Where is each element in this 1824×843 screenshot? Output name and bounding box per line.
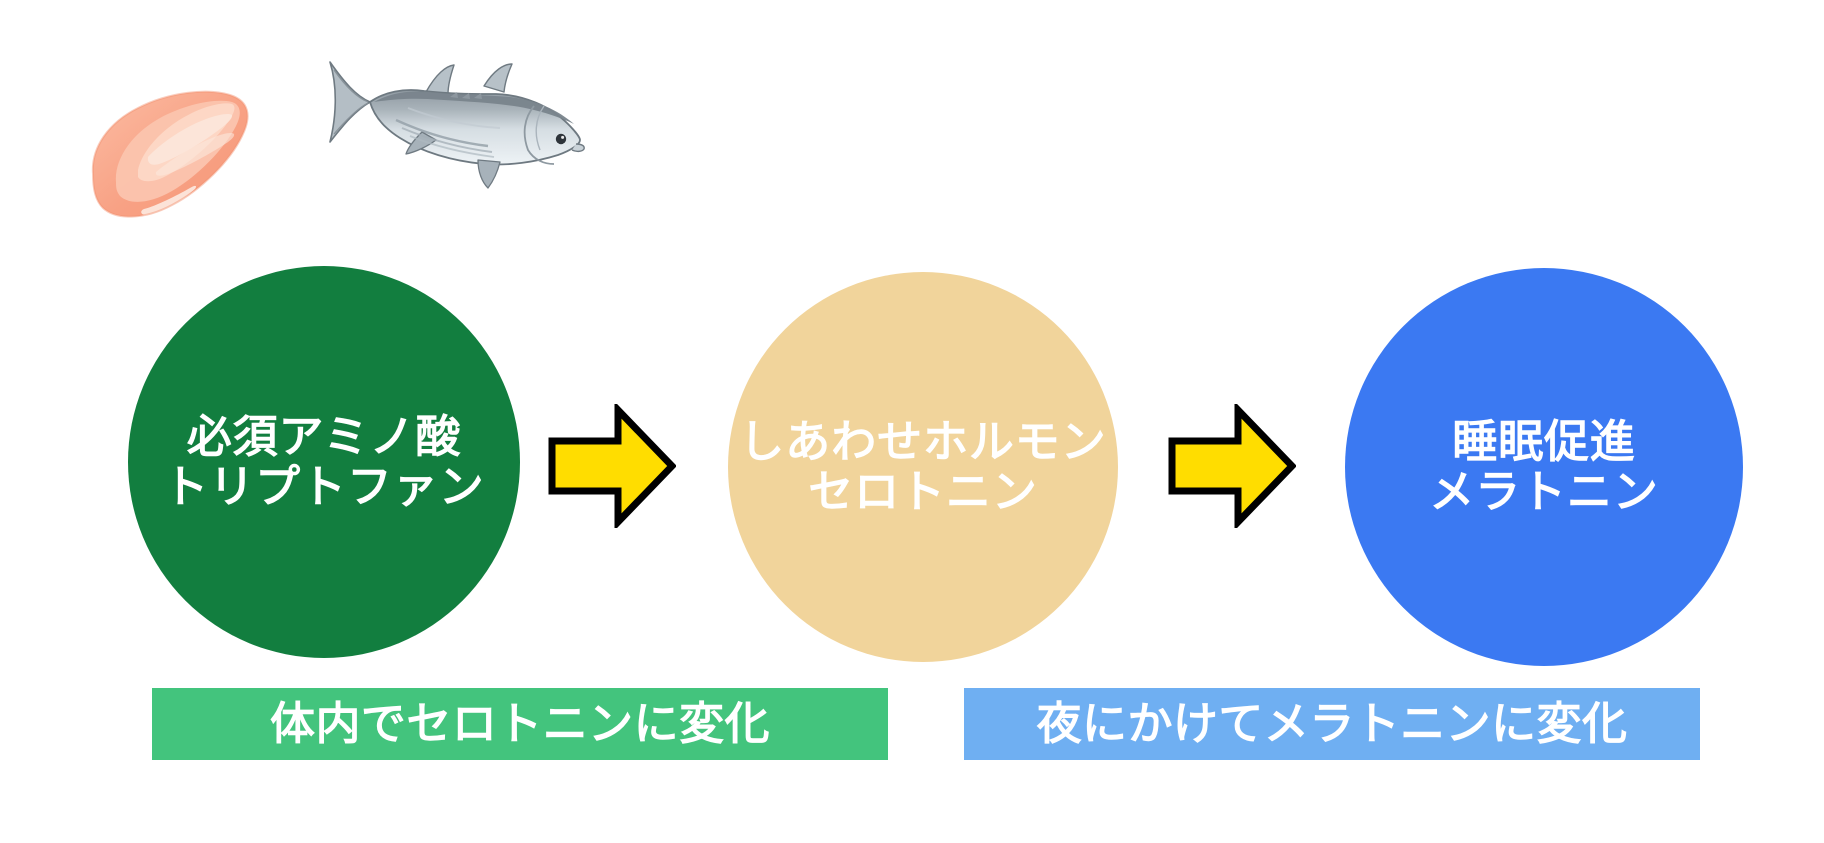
arrow-2 xyxy=(1168,404,1296,528)
arrow-right-icon xyxy=(1168,404,1296,528)
node-melatonin-line2: メラトニン xyxy=(1429,467,1659,517)
bonito-fish-illustration xyxy=(318,40,586,192)
node-tryptophan: 必須アミノ酸 トリプトファン xyxy=(128,266,520,658)
salmon-fillet-illustration xyxy=(86,78,281,223)
caption-bar-serotonin: 体内でセロトニンに変化 xyxy=(152,688,888,760)
fish-icon xyxy=(318,40,586,192)
caption-bar-melatonin-label: 夜にかけてメラトニンに変化 xyxy=(1037,702,1628,747)
node-melatonin: 睡眠促進 メラトニン xyxy=(1345,268,1743,666)
arrow-right-icon xyxy=(548,404,676,528)
arrow-1 xyxy=(548,404,676,528)
node-serotonin: しあわせホルモン セロトニン xyxy=(728,272,1118,662)
caption-bar-melatonin: 夜にかけてメラトニンに変化 xyxy=(964,688,1700,760)
caption-bar-serotonin-label: 体内でセロトニンに変化 xyxy=(270,702,770,747)
diagram-canvas: 必須アミノ酸 トリプトファン しあわせホルモン セロトニン 睡眠促進 メラトニン… xyxy=(0,0,1824,843)
node-melatonin-line1: 睡眠促進 xyxy=(1452,417,1636,467)
node-tryptophan-line1: 必須アミノ酸 xyxy=(187,412,462,462)
salmon-fillet-icon xyxy=(86,78,281,223)
node-tryptophan-line2: トリプトファン xyxy=(163,462,484,512)
node-serotonin-line2: セロトニン xyxy=(808,467,1038,517)
node-serotonin-line1: しあわせホルモン xyxy=(739,417,1106,467)
